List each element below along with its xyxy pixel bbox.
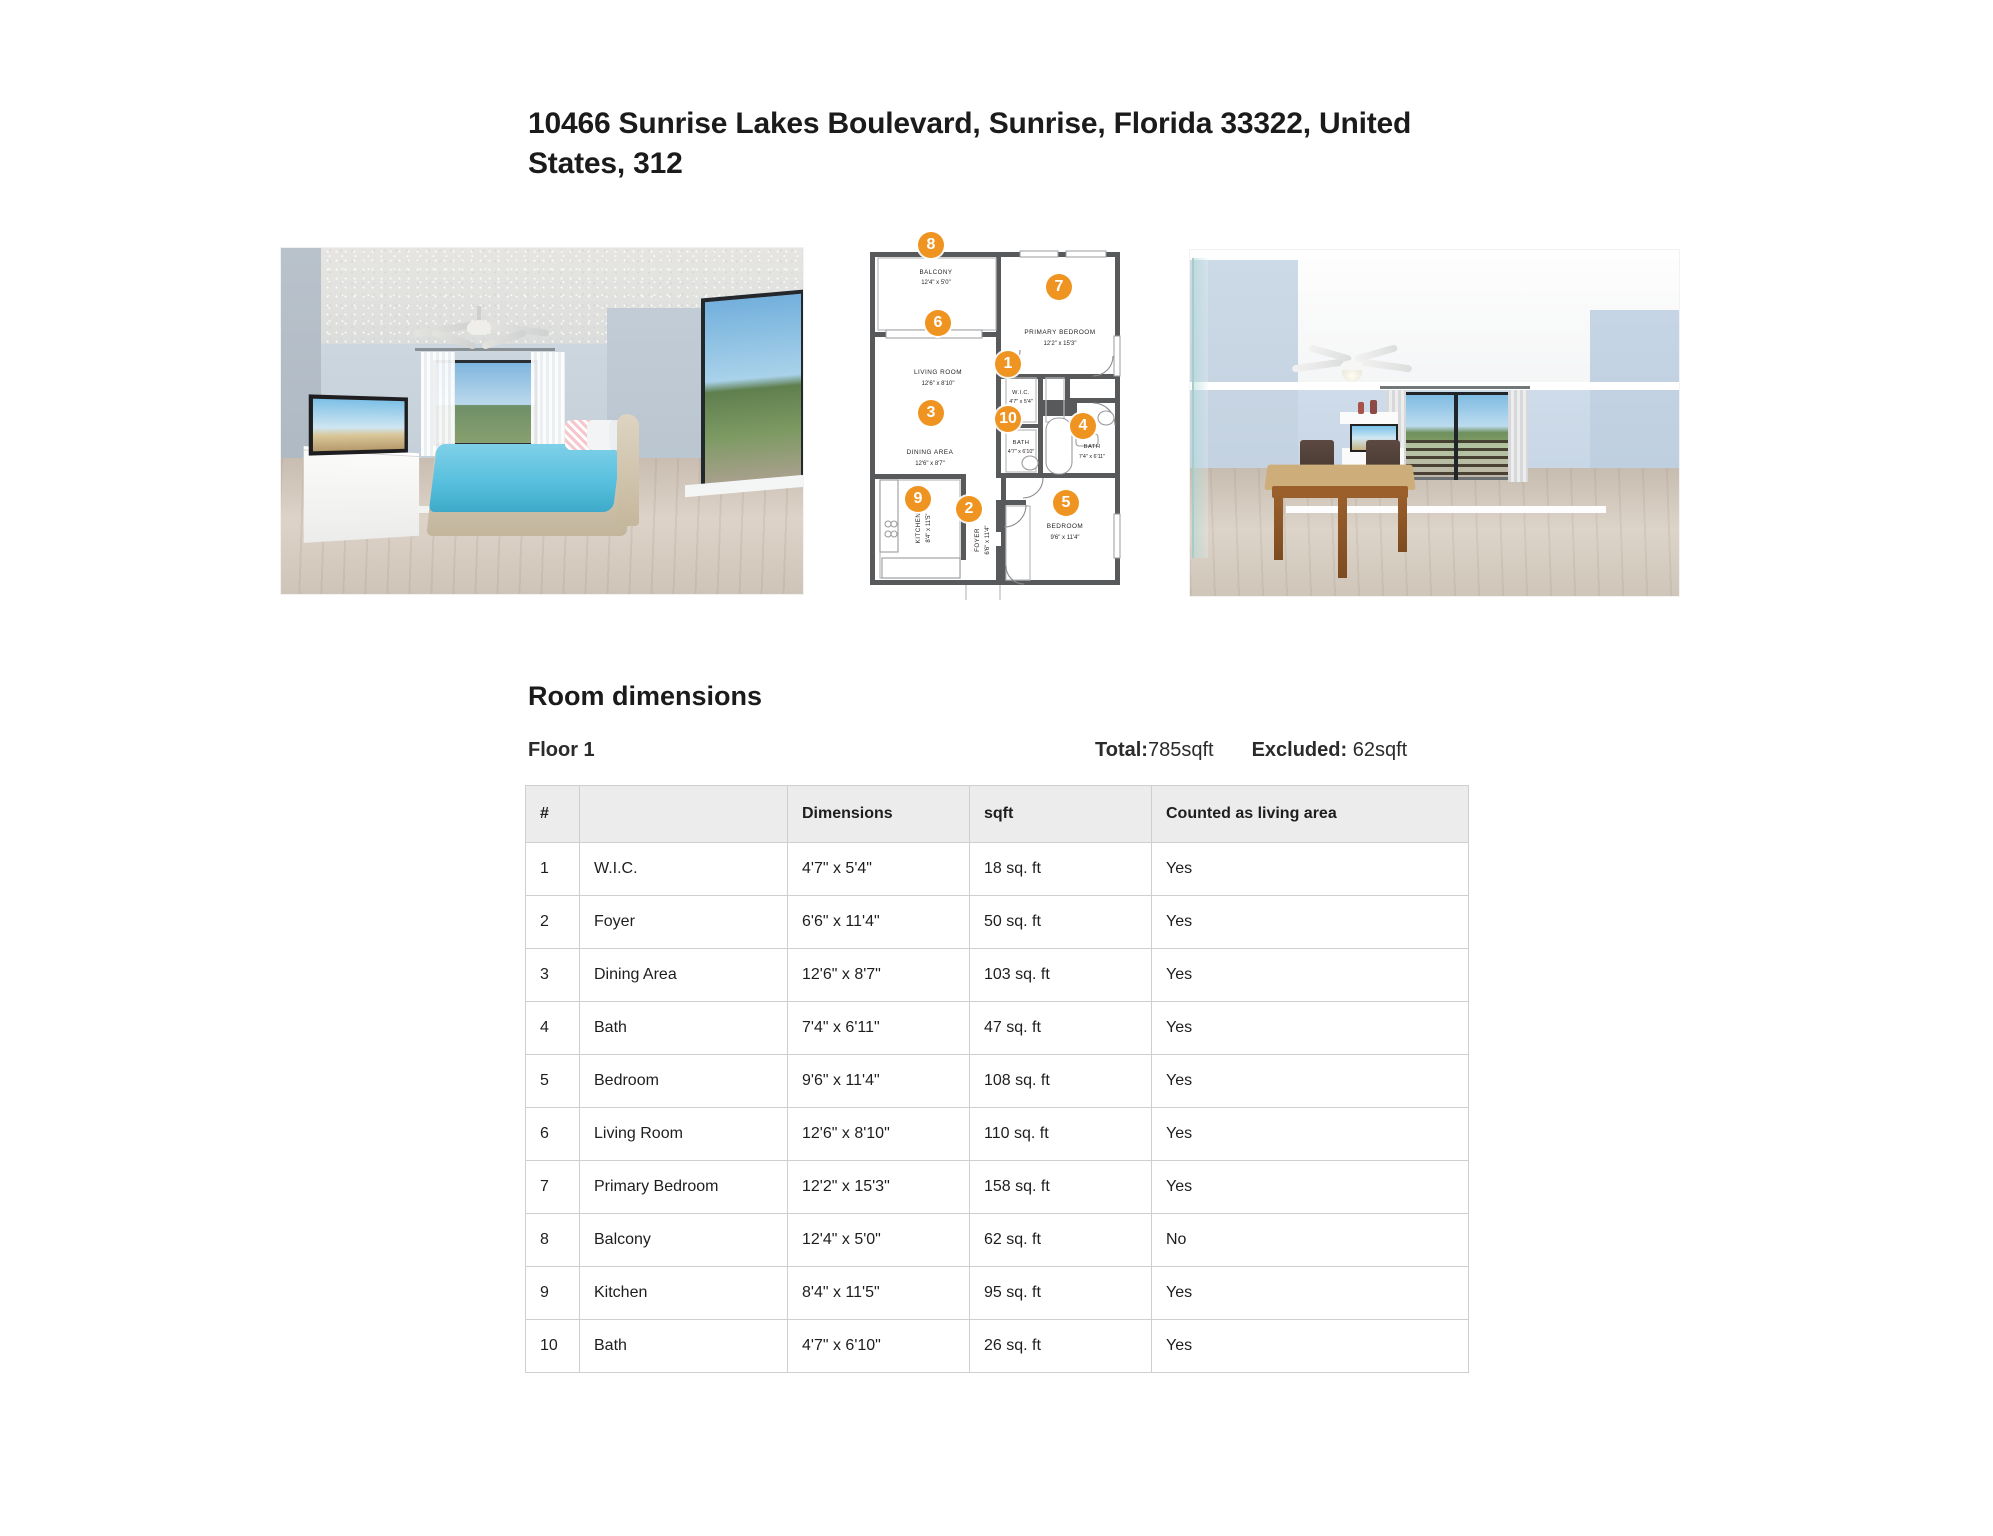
floorplan-marker-2[interactable]: 2: [956, 496, 982, 522]
svg-text:W.I.C.: W.I.C.: [1012, 390, 1030, 396]
row-living-area: No: [1152, 1214, 1469, 1267]
row-dimensions: 12'6" x 8'7": [788, 949, 970, 1002]
row-sqft: 50 sq. ft: [970, 896, 1152, 949]
floorplan-marker-6[interactable]: 6: [925, 310, 951, 336]
floor-totals: Total:785sqftExcluded: 62sqft: [1095, 739, 1407, 762]
row-dimensions: 6'6" x 11'4": [788, 896, 970, 949]
television: [309, 394, 408, 455]
living-dining-photo[interactable]: [1190, 250, 1679, 596]
total-value: 785sqft: [1148, 739, 1214, 761]
row-living-area: Yes: [1152, 843, 1469, 896]
bedroom-photo[interactable]: [281, 248, 803, 594]
svg-text:PRIMARY BEDROOM: PRIMARY BEDROOM: [1024, 329, 1095, 336]
column-header-sqft: sqft: [970, 786, 1152, 843]
svg-text:12'4" x 5'0": 12'4" x 5'0": [921, 280, 951, 286]
excluded-value: 62sqft: [1353, 739, 1407, 761]
window-right: [701, 289, 803, 488]
table-row: 9Kitchen8'4" x 11'5"95 sq. ftYes: [526, 1267, 1469, 1320]
row-living-area: Yes: [1152, 896, 1469, 949]
svg-text:9'6" x 11'4": 9'6" x 11'4": [1050, 535, 1079, 541]
row-number: 7: [526, 1161, 580, 1214]
row-room-name: Balcony: [580, 1214, 788, 1267]
row-living-area: Yes: [1152, 1108, 1469, 1161]
svg-text:6'6" x 11'4": 6'6" x 11'4": [985, 525, 991, 554]
row-room-name: Kitchen: [580, 1267, 788, 1320]
floorplan-marker-1[interactable]: 1: [995, 351, 1021, 377]
table-row: 7Primary Bedroom12'2" x 15'3"158 sq. ftY…: [526, 1161, 1469, 1214]
headboard: [617, 414, 639, 526]
row-living-area: Yes: [1152, 1002, 1469, 1055]
door-mullion: [1454, 392, 1458, 480]
svg-text:LIVING ROOM: LIVING ROOM: [914, 369, 962, 376]
decor-vase: [1370, 400, 1377, 414]
row-sqft: 62 sq. ft: [970, 1214, 1152, 1267]
dresser: [304, 446, 419, 543]
svg-text:8'4" x 11'5": 8'4" x 11'5": [926, 513, 932, 542]
svg-text:7'4" x 6'11": 7'4" x 6'11": [1079, 454, 1105, 460]
row-sqft: 108 sq. ft: [970, 1055, 1152, 1108]
svg-text:BALCONY: BALCONY: [919, 269, 952, 276]
table-row: 3Dining Area12'6" x 8'7"103 sq. ftYes: [526, 949, 1469, 1002]
svg-text:BATH: BATH: [1084, 444, 1101, 450]
floor: [1190, 468, 1679, 596]
excluded-label: Excluded:: [1252, 739, 1348, 761]
total-label: Total:: [1095, 739, 1148, 761]
table-leg: [1338, 496, 1347, 578]
column-header-room: [580, 786, 788, 843]
svg-text:4'7" x 5'4": 4'7" x 5'4": [1009, 399, 1033, 405]
row-living-area: Yes: [1152, 1161, 1469, 1214]
row-dimensions: 12'4" x 5'0": [788, 1214, 970, 1267]
floorplan-marker-8[interactable]: 8: [918, 232, 944, 258]
floorplan-marker-5[interactable]: 5: [1053, 490, 1079, 516]
bed-blanket: [429, 444, 621, 512]
table-row: 10Bath4'7" x 6'10"26 sq. ftYes: [526, 1320, 1469, 1373]
curtain-left: [421, 352, 455, 456]
floorplan-marker-7[interactable]: 7: [1046, 274, 1072, 300]
row-sqft: 110 sq. ft: [970, 1108, 1152, 1161]
svg-text:12'6" x 8'10": 12'6" x 8'10": [922, 381, 955, 387]
row-room-name: Dining Area: [580, 949, 788, 1002]
table-header-row: # Dimensions sqft Counted as living area: [526, 786, 1469, 843]
room-dimensions-table: # Dimensions sqft Counted as living area…: [525, 785, 1469, 1373]
svg-text:12'6" x 8'7": 12'6" x 8'7": [915, 461, 945, 467]
table-row: 6Living Room12'6" x 8'10"110 sq. ftYes: [526, 1108, 1469, 1161]
row-sqft: 18 sq. ft: [970, 843, 1152, 896]
row-number: 10: [526, 1320, 580, 1373]
svg-text:DINING AREA: DINING AREA: [907, 449, 954, 456]
table-leg: [1398, 494, 1407, 552]
row-living-area: Yes: [1152, 949, 1469, 1002]
row-dimensions: 7'4" x 6'11": [788, 1002, 970, 1055]
row-sqft: 158 sq. ft: [970, 1161, 1152, 1214]
row-number: 4: [526, 1002, 580, 1055]
row-sqft: 47 sq. ft: [970, 1002, 1152, 1055]
row-room-name: Bath: [580, 1002, 788, 1055]
row-living-area: Yes: [1152, 1267, 1469, 1320]
row-dimensions: 9'6" x 11'4": [788, 1055, 970, 1108]
curtain-right: [1508, 390, 1528, 482]
table-row: 4Bath7'4" x 6'11"47 sq. ftYes: [526, 1002, 1469, 1055]
table-row: 1W.I.C.4'7" x 5'4"18 sq. ftYes: [526, 843, 1469, 896]
row-dimensions: 12'6" x 8'10": [788, 1108, 970, 1161]
column-header-living: Counted as living area: [1152, 786, 1469, 843]
svg-text:4'7" x 6'10": 4'7" x 6'10": [1008, 449, 1035, 455]
row-room-name: Bath: [580, 1320, 788, 1373]
row-sqft: 95 sq. ft: [970, 1267, 1152, 1320]
column-header-dimensions: Dimensions: [788, 786, 970, 843]
row-number: 8: [526, 1214, 580, 1267]
floor-plan[interactable]: BALCONY 12'4" x 5'0" LIVING ROOM 12'6" x…: [860, 228, 1132, 600]
curtain-rod: [1380, 386, 1530, 389]
svg-text:BATH: BATH: [1013, 440, 1030, 446]
svg-text:BEDROOM: BEDROOM: [1047, 523, 1084, 530]
baseboard: [1286, 506, 1606, 513]
property-report-page: 10466 Sunrise Lakes Boulevard, Sunrise, …: [0, 0, 1993, 1536]
column-header-number: #: [526, 786, 580, 843]
row-room-name: W.I.C.: [580, 843, 788, 896]
row-sqft: 26 sq. ft: [970, 1320, 1152, 1373]
row-number: 9: [526, 1267, 580, 1320]
wall-shelf: [1340, 412, 1398, 424]
row-living-area: Yes: [1152, 1055, 1469, 1108]
row-sqft: 103 sq. ft: [970, 949, 1152, 1002]
row-number: 3: [526, 949, 580, 1002]
row-number: 2: [526, 896, 580, 949]
table-leg: [1274, 494, 1283, 560]
svg-text:FOYER: FOYER: [974, 528, 981, 552]
row-dimensions: 8'4" x 11'5": [788, 1267, 970, 1320]
table-row: 2Foyer6'6" x 11'4"50 sq. ftYes: [526, 896, 1469, 949]
row-dimensions: 12'2" x 15'3": [788, 1161, 970, 1214]
row-number: 6: [526, 1108, 580, 1161]
row-room-name: Primary Bedroom: [580, 1161, 788, 1214]
floorplan-marker-10[interactable]: 10: [995, 406, 1021, 432]
row-living-area: Yes: [1152, 1320, 1469, 1373]
curtain-right: [531, 352, 565, 456]
row-dimensions: 4'7" x 5'4": [788, 843, 970, 896]
glass-partition: [1192, 258, 1208, 558]
row-number: 1: [526, 843, 580, 896]
svg-text:12'2" x 15'3": 12'2" x 15'3": [1044, 341, 1077, 347]
decor-vase: [1358, 402, 1364, 414]
ceiling-fan-hub: [467, 320, 491, 335]
floorplan-marker-3[interactable]: 3: [918, 400, 944, 426]
row-room-name: Foyer: [580, 896, 788, 949]
media-row: BALCONY 12'4" x 5'0" LIVING ROOM 12'6" x…: [0, 0, 1993, 620]
row-number: 5: [526, 1055, 580, 1108]
table-row: 8Balcony12'4" x 5'0"62 sq. ftNo: [526, 1214, 1469, 1267]
row-dimensions: 4'7" x 6'10": [788, 1320, 970, 1373]
floorplan-marker-4[interactable]: 4: [1070, 413, 1096, 439]
room-dimensions-heading: Room dimensions: [528, 681, 762, 712]
table-row: 5Bedroom9'6" x 11'4"108 sq. ftYes: [526, 1055, 1469, 1108]
svg-text:KITCHEN: KITCHEN: [915, 513, 922, 544]
floor-label: Floor 1: [528, 739, 595, 762]
row-room-name: Living Room: [580, 1108, 788, 1161]
row-room-name: Bedroom: [580, 1055, 788, 1108]
floorplan-marker-9[interactable]: 9: [905, 486, 931, 512]
